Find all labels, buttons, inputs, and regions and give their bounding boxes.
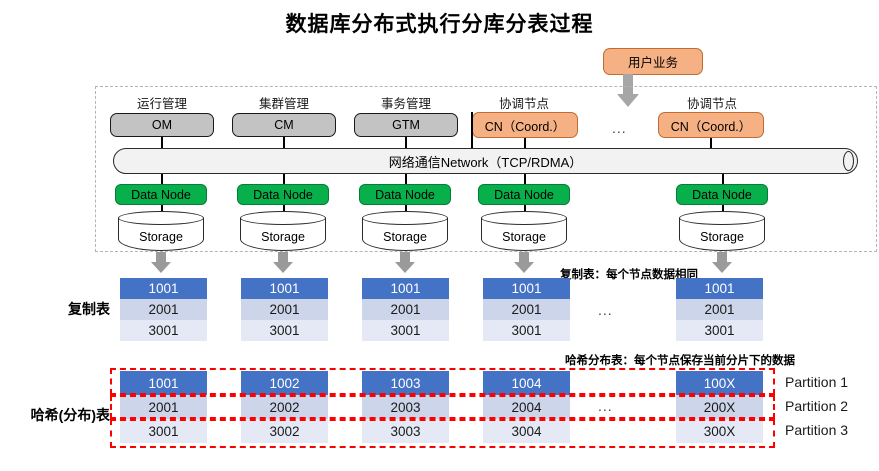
hash-ellipsis: ...	[598, 398, 613, 414]
repl-cell-1-2: 3001	[241, 320, 328, 341]
storage-4-label: Storage	[679, 225, 765, 249]
hash-cell-3-1: 2004	[483, 395, 570, 419]
diagram-canvas: 数据库分布式执行分库分表过程 用户业务 运行管理 集群管理 事务管理 协调节点 …	[0, 0, 879, 471]
repl-cell-4-2: 3001	[676, 320, 763, 341]
storage-0[interactable]: Storage	[118, 211, 204, 251]
hash-cell-2-0: 1003	[362, 371, 449, 395]
column-caption-4: 协调节点	[660, 93, 764, 112]
node-cn-1-label: CN（Coord.）	[485, 116, 566, 135]
data-node-4[interactable]: Data Node	[676, 184, 768, 205]
hash-cell-4-2: 300X	[676, 419, 763, 443]
node-om-label: OM	[152, 118, 172, 132]
partition-label-3: Partition 3	[785, 422, 848, 438]
storage-4[interactable]: Storage	[679, 211, 765, 251]
repl-cell-0-1: 2001	[120, 299, 207, 320]
hash-cell-1-0: 1002	[241, 371, 328, 395]
repl-cell-2-0: 1001	[362, 278, 449, 299]
data-node-3-label: Data Node	[494, 188, 554, 202]
storage-3-label: Storage	[481, 225, 567, 249]
user-business-label: 用户业务	[628, 52, 678, 71]
data-node-1[interactable]: Data Node	[237, 184, 329, 205]
repl-cell-3-2: 3001	[483, 320, 570, 341]
replication-row-label: 复制表	[10, 299, 110, 319]
repl-cell-3-0: 1001	[483, 278, 570, 299]
network-bar-label: 网络通信Network（TCP/RDMA）	[389, 152, 583, 171]
node-cm-label: CM	[274, 118, 293, 132]
storage-2-label: Storage	[362, 225, 448, 249]
storage-3[interactable]: Storage	[481, 211, 567, 251]
data-node-2[interactable]: Data Node	[359, 184, 451, 205]
repl-cell-2-2: 3001	[362, 320, 449, 341]
node-cn-2[interactable]: CN（Coord.）	[658, 112, 764, 138]
hash-cell-1-2: 3002	[241, 419, 328, 443]
storage-1-label: Storage	[240, 225, 326, 249]
column-caption-2: 事务管理	[354, 93, 458, 112]
data-node-3[interactable]: Data Node	[478, 184, 570, 205]
column-caption-0: 运行管理	[110, 93, 214, 112]
node-cn-1[interactable]: CN（Coord.）	[472, 112, 578, 138]
page-title: 数据库分布式执行分库分表过程	[0, 8, 879, 38]
node-gtm[interactable]: GTM	[354, 113, 458, 137]
network-cylinder-endcap-icon	[843, 151, 854, 171]
node-om[interactable]: OM	[110, 113, 214, 137]
hash-annotation: 哈希分布表：每个节点保存当前分片下的数据	[565, 352, 795, 368]
hash-cell-1-1: 2002	[241, 395, 328, 419]
storage-1[interactable]: Storage	[240, 211, 326, 251]
cluster-ellipsis: ...	[612, 120, 627, 136]
data-node-1-label: Data Node	[253, 188, 313, 202]
user-business-box[interactable]: 用户业务	[603, 48, 703, 75]
column-caption-1: 集群管理	[232, 93, 336, 112]
repl-cell-4-1: 2001	[676, 299, 763, 320]
node-gtm-label: GTM	[392, 118, 420, 132]
hash-cell-4-1: 200X	[676, 395, 763, 419]
node-cn-2-label: CN（Coord.）	[671, 116, 752, 135]
repl-cell-1-0: 1001	[241, 278, 328, 299]
repl-cell-0-0: 1001	[120, 278, 207, 299]
data-node-0[interactable]: Data Node	[115, 184, 207, 205]
hash-row-label: 哈希(分布)表	[5, 405, 110, 425]
storage-0-label: Storage	[118, 225, 204, 249]
data-node-0-label: Data Node	[131, 188, 191, 202]
hash-cell-2-1: 2003	[362, 395, 449, 419]
repl-cell-3-1: 2001	[483, 299, 570, 320]
partition-label-1: Partition 1	[785, 374, 848, 390]
data-node-2-label: Data Node	[375, 188, 435, 202]
hash-cell-2-2: 3003	[362, 419, 449, 443]
node-cm[interactable]: CM	[232, 113, 336, 137]
repl-cell-4-0: 1001	[676, 278, 763, 299]
repl-cell-2-1: 2001	[362, 299, 449, 320]
repl-cell-0-2: 3001	[120, 320, 207, 341]
hash-cell-0-2: 3001	[120, 419, 207, 443]
repl-cell-1-1: 2001	[241, 299, 328, 320]
data-node-4-label: Data Node	[692, 188, 752, 202]
column-caption-3: 协调节点	[472, 93, 576, 112]
hash-cell-0-1: 2001	[120, 395, 207, 419]
hash-cell-4-0: 100X	[676, 371, 763, 395]
storage-2[interactable]: Storage	[362, 211, 448, 251]
hash-cell-0-0: 1001	[120, 371, 207, 395]
network-bar: 网络通信Network（TCP/RDMA）	[113, 148, 858, 174]
hash-cell-3-2: 3004	[483, 419, 570, 443]
hash-cell-3-0: 1004	[483, 371, 570, 395]
partition-label-2: Partition 2	[785, 398, 848, 414]
connector-cn1-left-network	[471, 112, 473, 150]
replication-ellipsis: ...	[598, 302, 613, 318]
